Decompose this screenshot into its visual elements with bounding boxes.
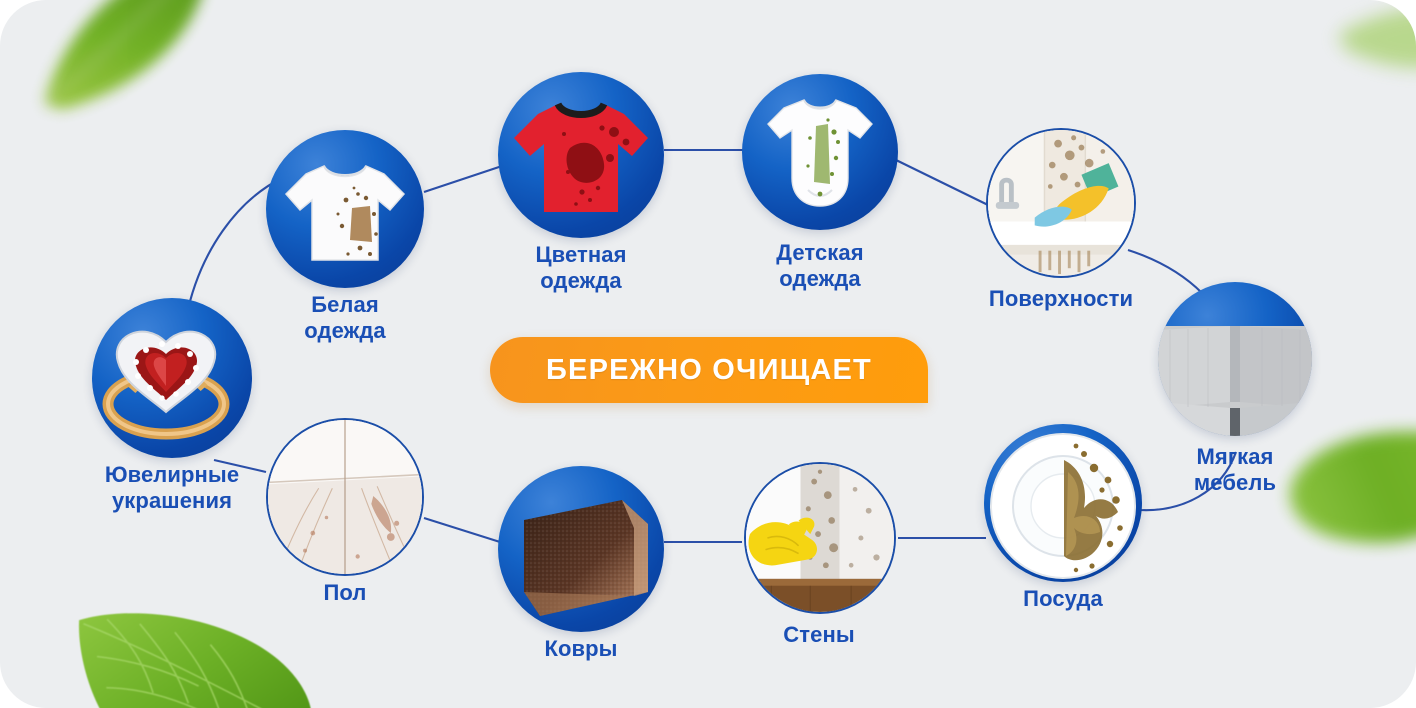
caption-floor: Пол (230, 580, 460, 606)
sofa-icon (1158, 282, 1312, 436)
badge-gentle-cleaning: БЕРЕЖНО ОЧИЩАЕТ (490, 337, 928, 403)
bubble-jewelry (92, 298, 252, 458)
caption-surfaces: Поверхности (946, 286, 1176, 312)
node-jewelry[interactable]: Ювелирные украшения (92, 298, 252, 458)
bubble-floor (266, 418, 424, 576)
bubble-colored-clothing (498, 72, 664, 238)
node-floor[interactable]: Пол (266, 418, 424, 576)
bubble-baby-clothing (742, 74, 898, 230)
node-sofa[interactable]: Мягкая мебель (1158, 282, 1312, 436)
caption-white-clothing: Белая одежда (230, 292, 460, 343)
badge-label: БЕРЕЖНО ОЧИЩАЕТ (546, 354, 872, 387)
bubble-dishes (984, 424, 1142, 582)
plate-icon (984, 424, 1142, 582)
caption-baby-clothing: Детская одежда (705, 240, 935, 291)
wall-glove-icon (746, 464, 894, 612)
node-dishes[interactable]: Посуда (984, 424, 1142, 582)
bathtub-icon (988, 130, 1134, 276)
node-carpets[interactable]: Ковры (498, 466, 664, 632)
caption-dishes: Посуда (948, 586, 1178, 612)
onesie-icon (742, 74, 898, 230)
bubble-sofa (1158, 282, 1312, 436)
carpet-icon (498, 466, 664, 632)
bubble-white-clothing (266, 130, 424, 288)
bubble-carpets (498, 466, 664, 632)
node-walls[interactable]: Стены (744, 462, 896, 614)
tshirt-white-icon (266, 130, 424, 288)
node-white-clothing[interactable]: Белая одежда (266, 130, 424, 288)
bubble-walls (744, 462, 896, 614)
infographic-banner: Ювелирные украшения Белая одежда (0, 0, 1416, 708)
caption-sofa: Мягкая мебель (1120, 444, 1350, 495)
ring-icon (92, 298, 252, 458)
node-colored-clothing[interactable]: Цветная одежда (498, 72, 664, 238)
node-baby-clothing[interactable]: Детская одежда (742, 74, 898, 230)
caption-jewelry: Ювелирные украшения (57, 462, 287, 513)
node-surfaces[interactable]: Поверхности (986, 128, 1136, 278)
caption-carpets: Ковры (466, 636, 696, 662)
caption-colored-clothing: Цветная одежда (466, 242, 696, 293)
bubble-surfaces (986, 128, 1136, 278)
floor-icon (268, 420, 422, 574)
caption-walls: Стены (704, 622, 934, 648)
tshirt-red-icon (498, 72, 664, 238)
